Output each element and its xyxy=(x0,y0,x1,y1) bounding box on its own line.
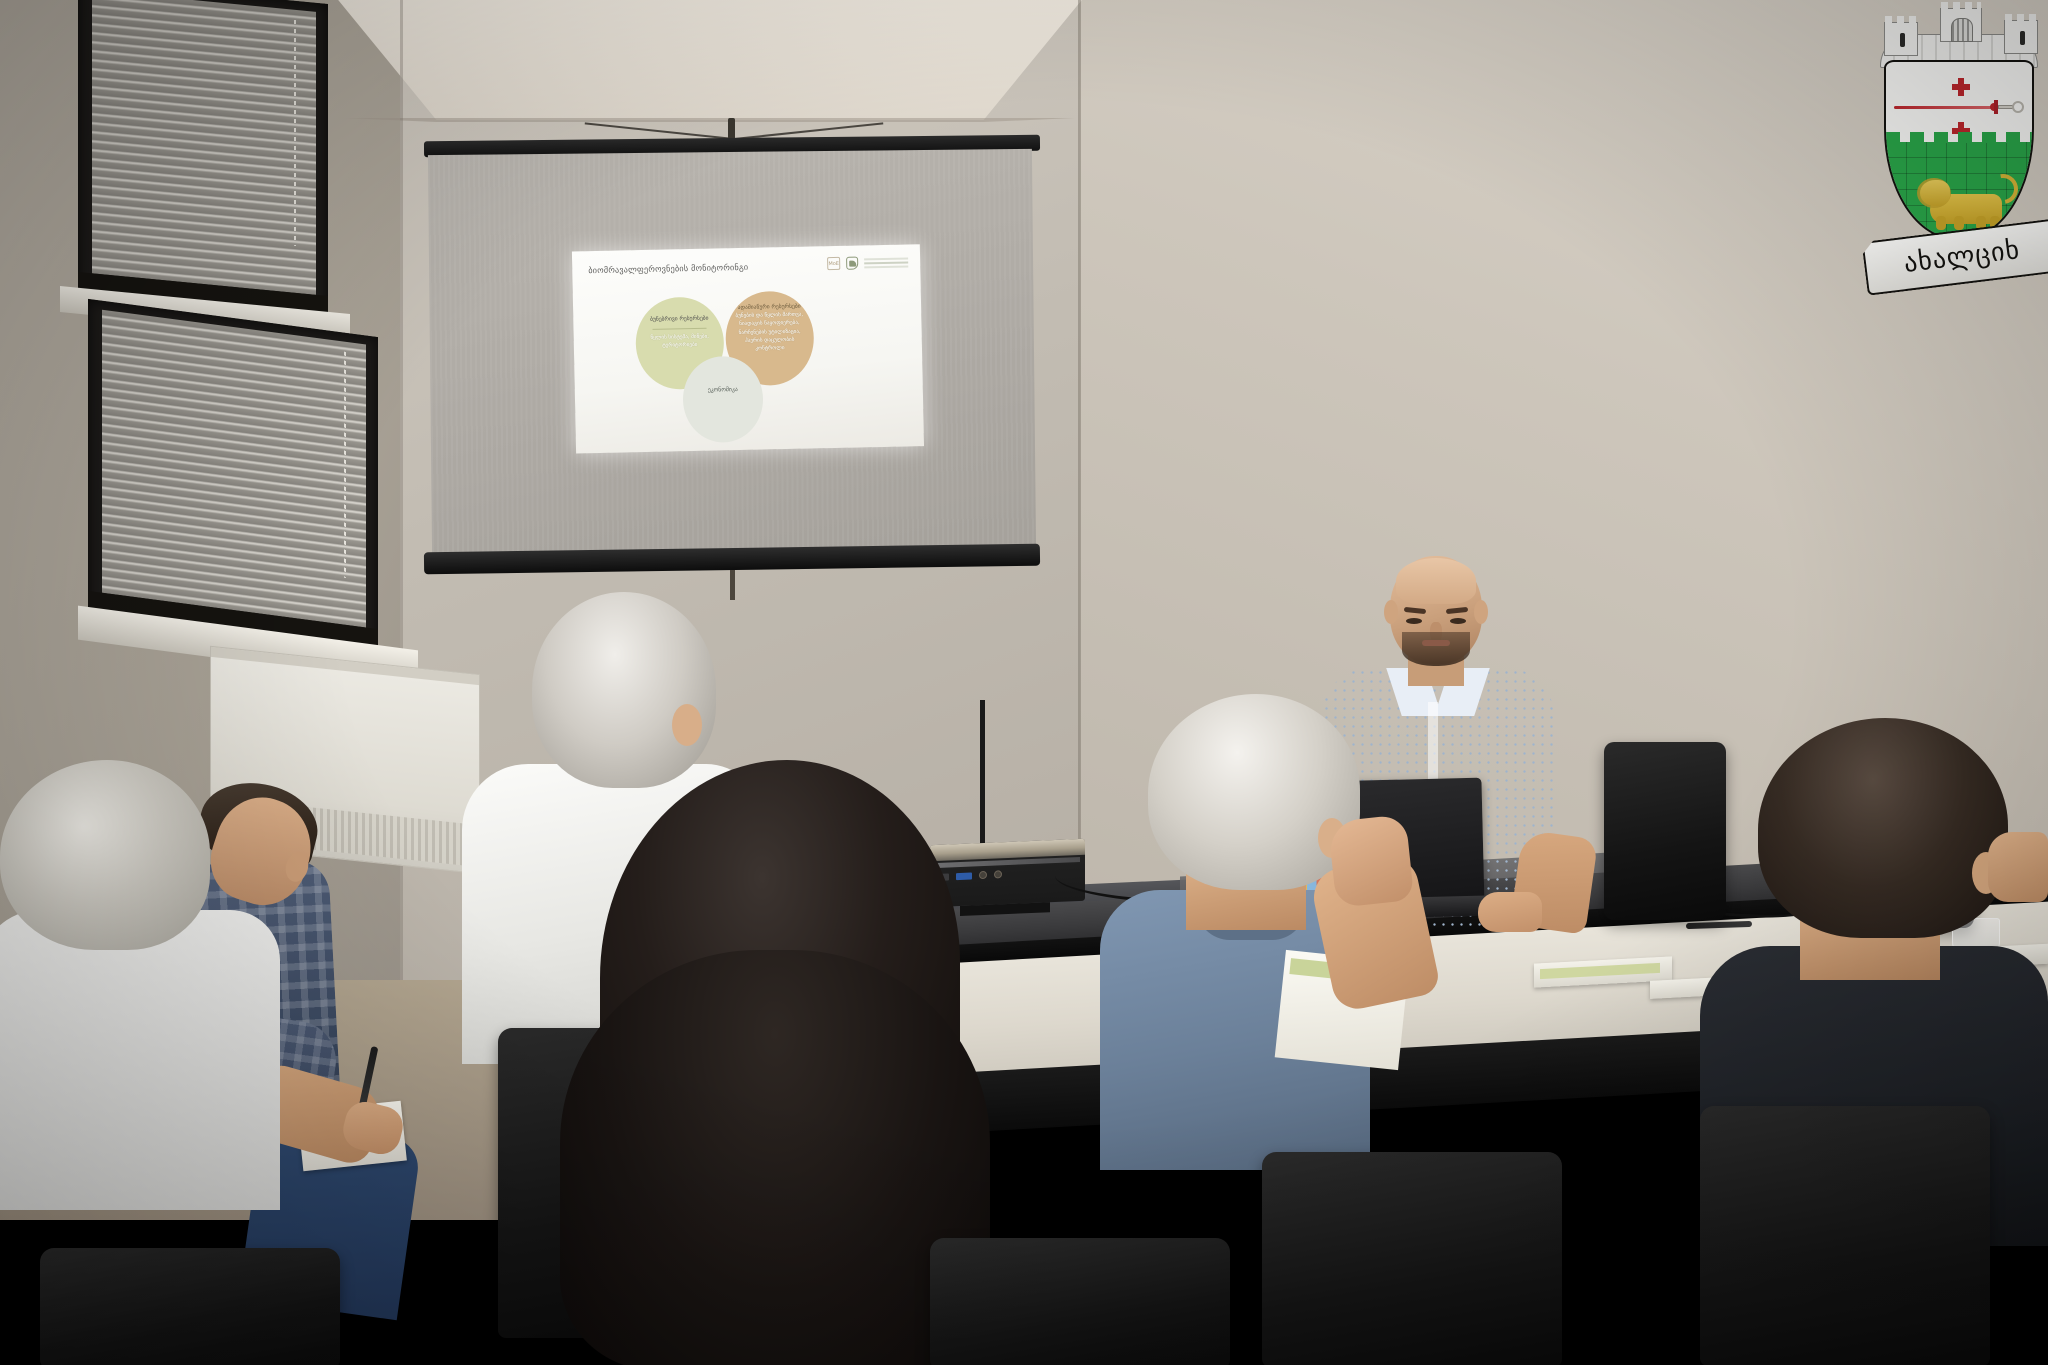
presenter-ear-right xyxy=(1474,600,1488,624)
portcullis-gate-icon xyxy=(1951,18,1973,42)
sword-icon xyxy=(1894,102,2022,112)
red-cross-upper-icon xyxy=(1952,78,1970,96)
window-upper xyxy=(78,0,328,322)
organization-logo-wordmark xyxy=(864,261,908,264)
arrow-slit-icon xyxy=(2020,31,2025,45)
merlon-icon xyxy=(1885,16,1917,24)
presenter-eyebrow-left xyxy=(1404,607,1426,614)
projector-mount-pole xyxy=(980,700,985,850)
sword-blade xyxy=(1894,106,1998,109)
screen-hook-icon xyxy=(728,118,735,140)
presenter-scalp xyxy=(1396,558,1476,604)
crown-tower-right-icon xyxy=(2004,20,2038,54)
circle-left-divider xyxy=(653,328,707,330)
chair-trim xyxy=(31,1241,349,1365)
circle-bottom-heading: ეკონომიკა xyxy=(708,386,738,395)
vga-port-icon xyxy=(956,872,972,880)
presenter-beard xyxy=(1402,632,1470,666)
merlon-icon xyxy=(2005,14,2037,22)
presenter-hand xyxy=(1478,892,1542,932)
attendee-right-center-hand xyxy=(1328,814,1415,908)
chair-front-center-right[interactable] xyxy=(1262,1152,1562,1365)
circle-left-heading: ბუნებრივი რესურსები xyxy=(650,315,709,325)
presenter-eye-left xyxy=(1406,618,1422,624)
banner-text: ახალციხ xyxy=(1902,235,2021,279)
chair-trim xyxy=(921,1231,1239,1365)
blind-cord[interactable] xyxy=(294,20,296,247)
window-blinds-icon[interactable] xyxy=(102,310,366,628)
chair-presenter[interactable] xyxy=(1604,742,1726,920)
shield-green-wall xyxy=(1886,142,2032,238)
projection-screen: ბიომრავალფეროვნების მონიტორინგი MoE ბუნე… xyxy=(424,138,1040,570)
chair-trim xyxy=(1691,1099,1999,1365)
ceiling xyxy=(330,0,1090,120)
presentation-slide: ბიომრავალფეროვნების მონიტორინგი MoE ბუნე… xyxy=(572,244,924,453)
power-port-icon xyxy=(994,870,1002,878)
coat-of-arms-shield xyxy=(1884,60,2034,240)
presenter-ear-left xyxy=(1384,600,1398,624)
attendee-front-left-shirt xyxy=(0,910,280,1210)
lion-leg xyxy=(1936,216,1946,230)
blind-cord[interactable] xyxy=(344,352,346,579)
chair-front-right[interactable] xyxy=(1700,1106,1990,1365)
crown-tower-left-icon xyxy=(1884,22,1918,56)
slide-logos: MoE xyxy=(827,255,908,270)
attendee-front-left-hair xyxy=(0,760,210,950)
lion-icon xyxy=(1920,170,2012,228)
chair-trim xyxy=(1253,1145,1571,1365)
presenter-head xyxy=(1390,556,1482,664)
crown-tower-center-icon xyxy=(1940,8,1982,42)
ministry-badge-icon: MoE xyxy=(827,257,840,270)
window-blinds-icon[interactable] xyxy=(92,0,316,295)
attendee-center-hair xyxy=(532,592,716,788)
merlon-icon xyxy=(1941,2,1981,10)
lion-head xyxy=(1920,180,1950,206)
arrow-slit-icon xyxy=(1900,33,1905,47)
screen-surface: ბიომრავალფეროვნების მონიტორინგი MoE ბუნე… xyxy=(428,149,1036,557)
slide-circle-bottom: ეკონომიკა xyxy=(682,356,764,444)
presenter-eyebrow-right xyxy=(1446,607,1468,614)
organization-logo-icon xyxy=(846,257,858,270)
window-lower xyxy=(88,299,378,655)
chair-front-far-left[interactable] xyxy=(40,1248,340,1365)
sword-pommel xyxy=(2012,101,2024,113)
presenter-eye-right xyxy=(1450,618,1466,624)
presenter-mouth xyxy=(1422,640,1450,646)
attendee-woman-hair-lower xyxy=(560,950,990,1365)
attendee-right-hair xyxy=(1758,718,2008,938)
screen-pull-cord[interactable] xyxy=(730,570,735,600)
coat-of-arms: ახალციხ xyxy=(1870,8,2048,276)
audio-port-icon xyxy=(979,871,987,879)
slide-title: ბიომრავალფეროვნების მონიტორინგი xyxy=(588,262,748,275)
chair-front-center[interactable] xyxy=(930,1238,1230,1365)
attendee-right-center-hair xyxy=(1148,694,1360,890)
lion-leg xyxy=(1954,216,1964,230)
circle-right-body: ბუნების და წყლის მართვა, ნიადაგის ნაყოფი… xyxy=(733,311,806,353)
attendee-center-ear xyxy=(672,704,702,746)
conference-room-scene: ბიომრავალფეროვნების მონიტორინგი MoE ბუნე… xyxy=(0,0,2048,1365)
green-wall-merlons xyxy=(1886,132,2032,143)
ceiling-edge xyxy=(330,118,1090,122)
attendee-far-right-arm xyxy=(1988,832,2048,902)
circle-left-body: წყლის სისტემა, მიწები, ტერიტორიები xyxy=(644,333,716,351)
